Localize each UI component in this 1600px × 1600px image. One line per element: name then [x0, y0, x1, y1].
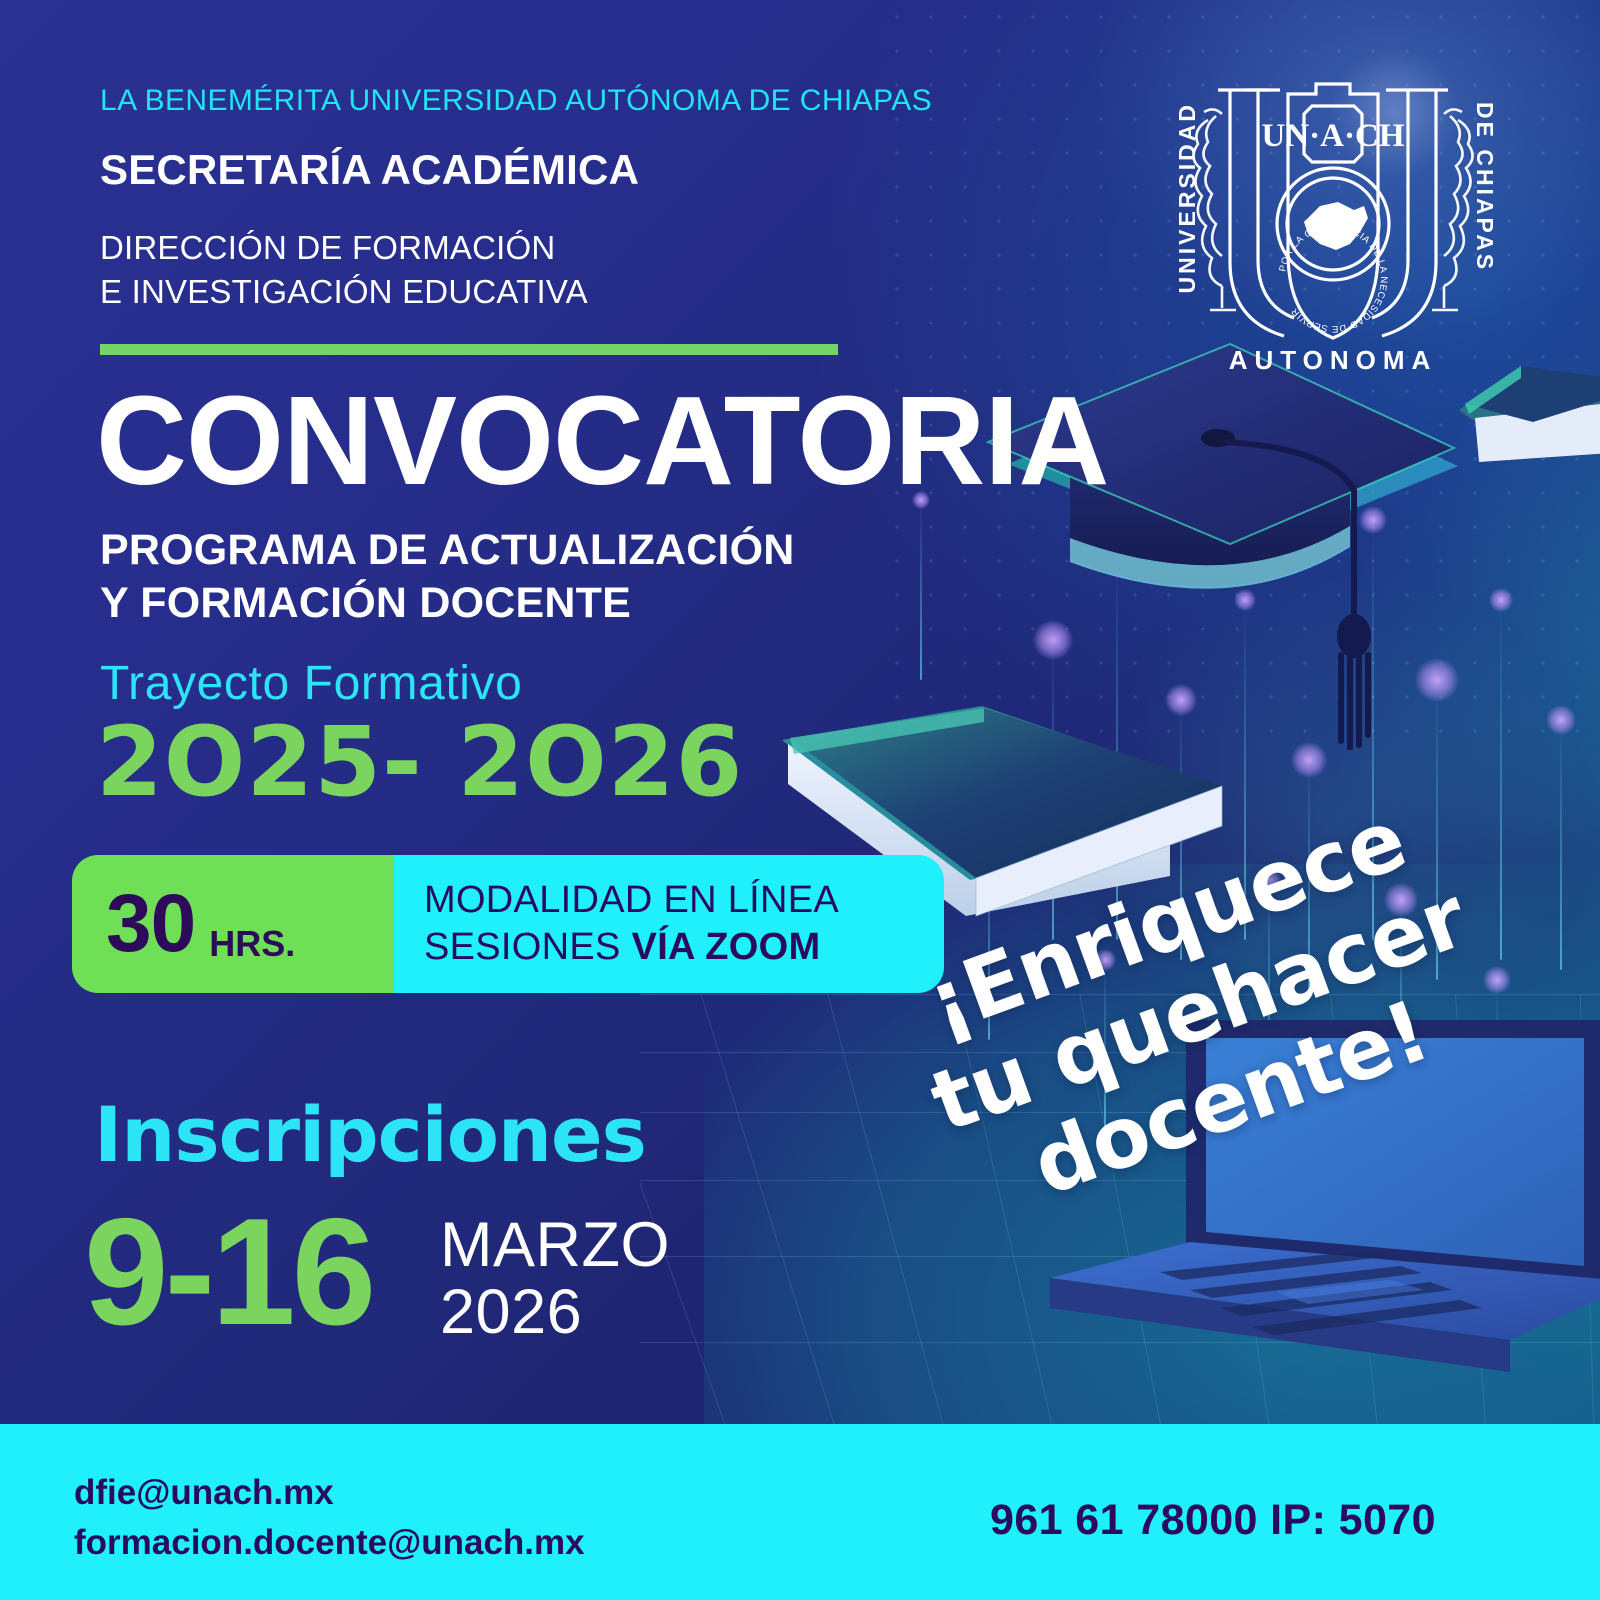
office-line-1: DIRECCIÓN DE FORMACIÓN: [100, 226, 588, 270]
bokeh-dot: [1489, 588, 1513, 612]
track-label: Trayecto Formativo: [100, 656, 522, 711]
badge-zoom-label: VÍA ZOOM: [632, 926, 821, 968]
poster-canvas: LA BENEMÉRITA UNIVERSIDAD AUTÓNOMA DE CH…: [0, 0, 1600, 1600]
svg-text:UN·A·CH: UN·A·CH: [1261, 118, 1404, 154]
program-line-1: PROGRAMA DE ACTUALIZACIÓN: [100, 524, 795, 577]
department-name: SECRETARÍA ACADÉMICA: [100, 146, 639, 194]
footer-emails: dfie@unach.mx formacion.docente@unach.mx: [74, 1468, 585, 1567]
program-name: PROGRAMA DE ACTUALIZACIÓN Y FORMACIÓN DO…: [100, 524, 795, 631]
badge-sessions-prefix: SESIONES: [424, 926, 632, 968]
badge-hours-section: 30 HRS.: [72, 855, 394, 993]
book-illustration-secondary: [1455, 358, 1600, 508]
logo-bottom-text: AUTONOMA: [1168, 345, 1498, 376]
footer-bar: dfie@unach.mx formacion.docente@unach.mx…: [0, 1424, 1600, 1600]
badge-modality-section: MODALIDAD EN LÍNEA SESIONES VÍA ZOOM: [394, 855, 944, 993]
hours-modality-badge: 30 HRS. MODALIDAD EN LÍNEA SESIONES VÍA …: [72, 855, 944, 993]
page-title: CONVOCATORIA: [96, 378, 1108, 504]
enrollment-days: 9-16: [84, 1196, 372, 1348]
logo-right-text: DE CHIAPAS: [1471, 102, 1498, 272]
light-streak: [1560, 720, 1562, 970]
footer-phone[interactable]: 961 61 78000 IP: 5070: [990, 1496, 1436, 1545]
badge-hours-unit: HRS.: [209, 923, 295, 965]
badge-modality-line-1: MODALIDAD EN LÍNEA: [424, 877, 944, 925]
office-name: DIRECCIÓN DE FORMACIÓN E INVESTIGACIÓN E…: [100, 226, 588, 314]
enrollment-month: MARZO: [440, 1212, 670, 1279]
green-divider: [100, 344, 838, 355]
bokeh-dot: [1546, 705, 1576, 735]
track-years: 2O25- 2O26: [96, 706, 743, 818]
badge-hours-number: 30: [106, 883, 195, 965]
enrollment-date: MARZO 2026: [440, 1212, 670, 1347]
office-line-2: E INVESTIGACIÓN EDUCATIVA: [100, 270, 588, 314]
logo-left-text: UNIVERSIDAD: [1174, 102, 1201, 293]
footer-email-2[interactable]: formacion.docente@unach.mx: [74, 1518, 585, 1568]
program-line-2: Y FORMACIÓN DOCENTE: [100, 577, 795, 630]
footer-email-1[interactable]: dfie@unach.mx: [74, 1468, 585, 1518]
institution-name: LA BENEMÉRITA UNIVERSIDAD AUTÓNOMA DE CH…: [100, 84, 932, 118]
enrollment-year: 2026: [440, 1279, 670, 1346]
badge-modality-line-2: SESIONES VÍA ZOOM: [424, 924, 944, 972]
enrollment-label: Inscripciones: [94, 1090, 646, 1179]
light-streak: [920, 500, 922, 680]
unach-logo: UN·A·CH POR LA CONCIENCIA DE LA NECESIDA…: [1168, 72, 1498, 372]
